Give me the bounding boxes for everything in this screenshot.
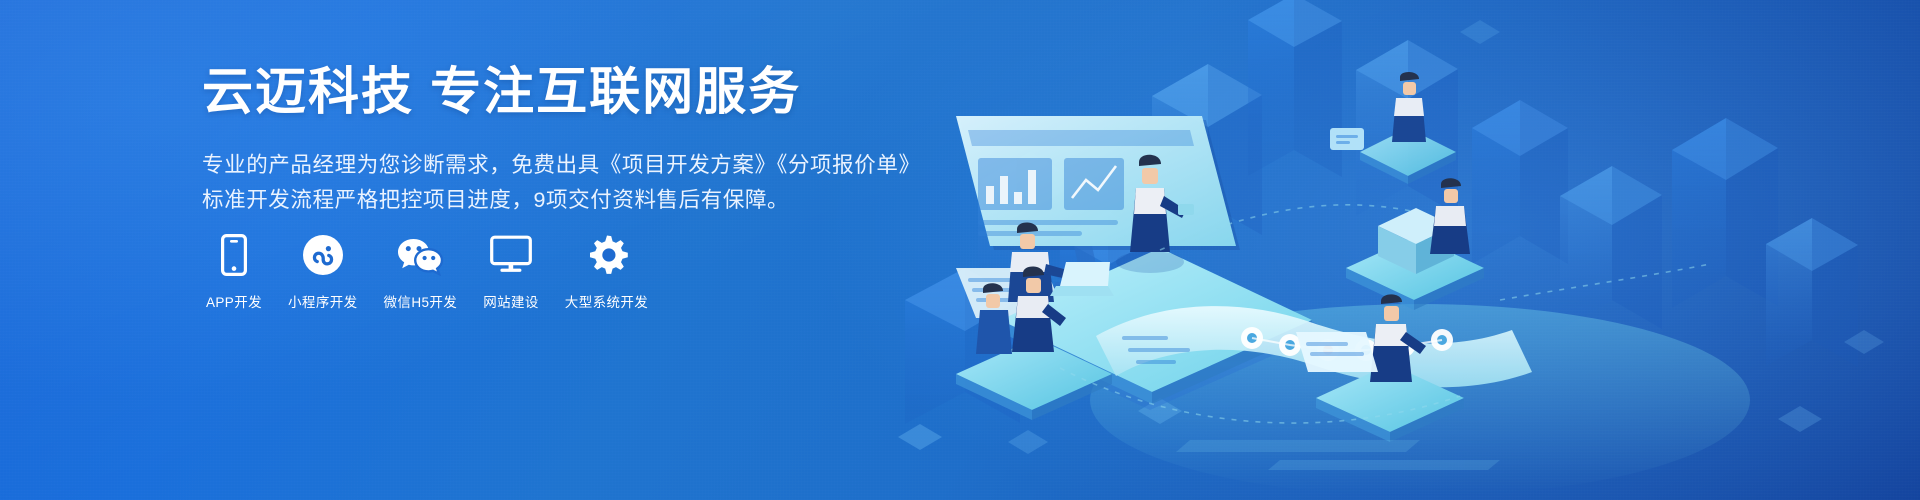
subtitle-line-1: 专业的产品经理为您诊断需求，免费出具《项目开发方案》《分项报价单》 [202, 148, 962, 183]
mobile-phone-icon [221, 233, 247, 277]
page-title: 云迈科技 专注互联网服务 [202, 62, 962, 122]
banner-subtitle: 专业的产品经理为您诊断需求，免费出具《项目开发方案》《分项报价单》 标准开发流程… [202, 148, 962, 218]
service-label: APP开发 [206, 291, 262, 311]
service-item-mini-program[interactable]: 小程序开发 [288, 233, 358, 311]
service-label: 大型系统开发 [565, 291, 648, 311]
subtitle-line-2: 标准开发流程严格把控项目进度，9项交付资料售后有保障。 [202, 183, 962, 218]
mini-program-icon [302, 233, 344, 277]
gear-icon [586, 233, 628, 277]
isometric-tech-team-illustration [860, 0, 1920, 500]
wechat-icon [396, 233, 444, 277]
service-item-website[interactable]: 网站建设 [483, 233, 539, 311]
banner-copy: 云迈科技 专注互联网服务 专业的产品经理为您诊断需求，免费出具《项目开发方案》《… [202, 62, 962, 218]
hero-banner: 云迈科技 专注互联网服务 专业的产品经理为您诊断需求，免费出具《项目开发方案》《… [0, 0, 1920, 500]
service-label: 网站建设 [483, 291, 539, 311]
monitor-icon [490, 233, 532, 277]
service-item-large-system[interactable]: 大型系统开发 [565, 233, 648, 311]
service-item-app[interactable]: APP开发 [206, 233, 262, 311]
service-label: 微信H5开发 [384, 291, 458, 311]
service-list: APP开发 小程序开发 [206, 233, 648, 311]
service-item-wechat-h5[interactable]: 微信H5开发 [384, 233, 458, 311]
service-label: 小程序开发 [288, 291, 358, 311]
